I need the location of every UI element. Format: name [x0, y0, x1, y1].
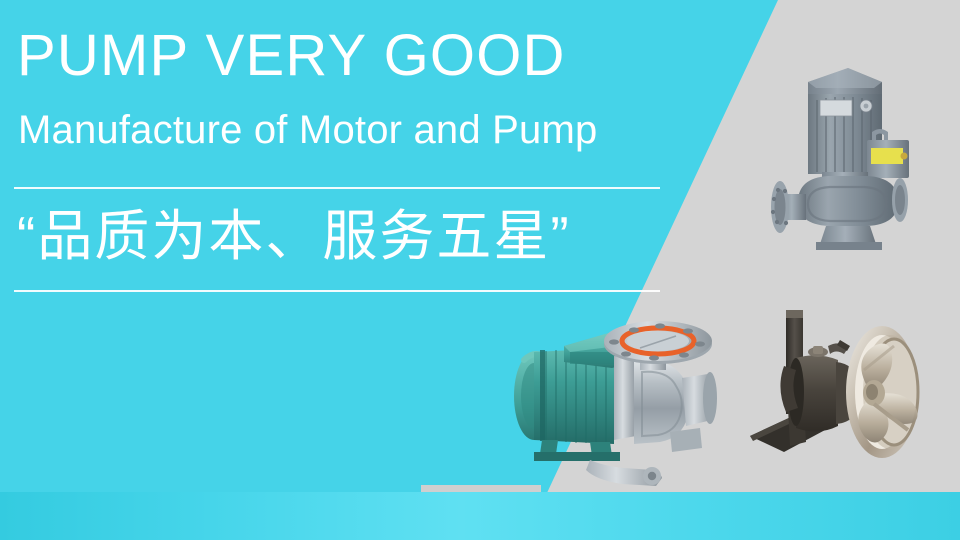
slogan-text: “品质为本、服务五星” [17, 204, 571, 268]
footer-accent-band [0, 492, 960, 540]
pump-base-shadow-strip [421, 485, 541, 492]
product-image-vertical-inline-pipeline-pump [764, 44, 954, 254]
product-image-submersible-propeller-mixer [744, 296, 954, 472]
divider-top [14, 187, 660, 189]
page-title: PUMP VERY GOOD [17, 27, 566, 85]
divider-bottom [14, 290, 660, 292]
page-subtitle: Manufacture of Motor and Pump [18, 108, 597, 152]
product-image-motor-coupled-centrifugal-pump [494, 300, 734, 490]
banner-canvas: PUMP VERY GOOD Manufacture of Motor and … [0, 0, 960, 540]
